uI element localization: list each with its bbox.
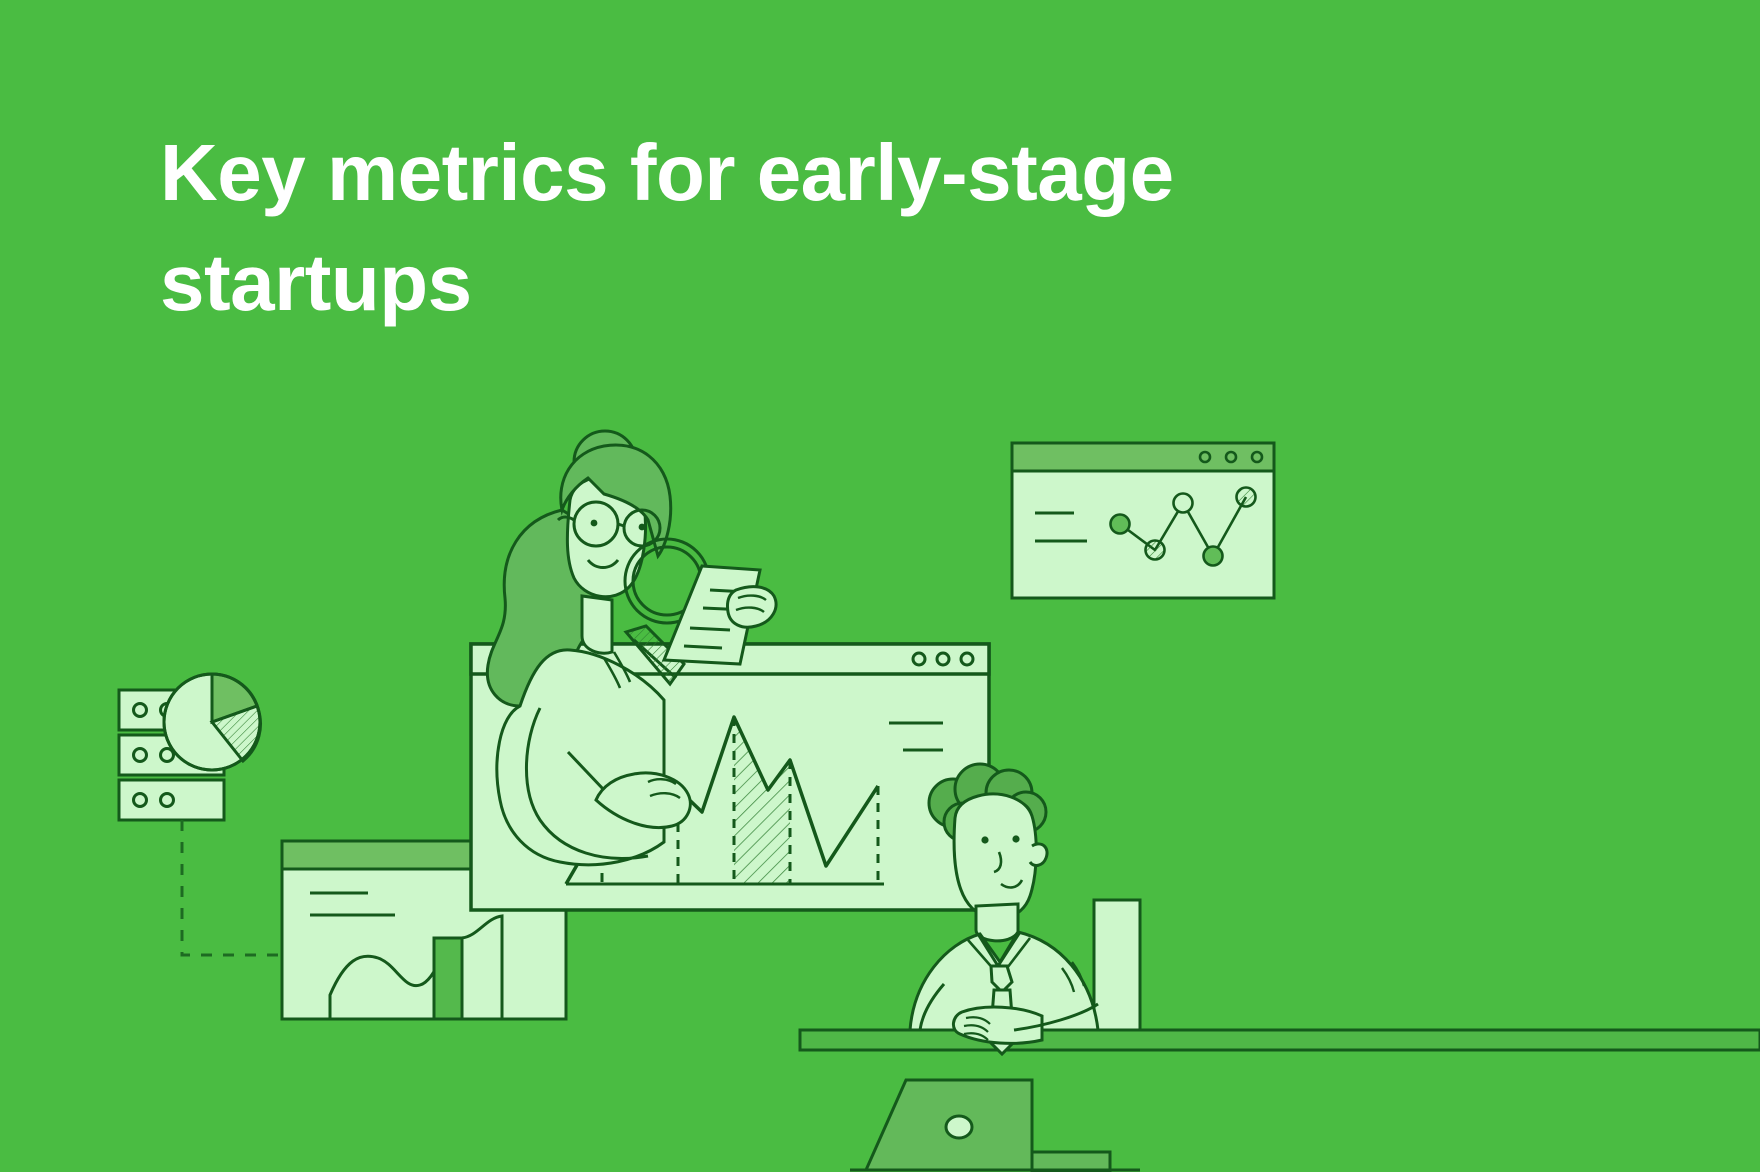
desk <box>800 1030 1760 1050</box>
eye <box>639 524 646 531</box>
eye <box>981 836 988 843</box>
poster-canvas: Key metrics for early-stage startups <box>0 0 1760 1172</box>
chart-marker <box>1237 488 1256 507</box>
ear <box>1030 844 1047 866</box>
area-chart-bar <box>434 938 464 1020</box>
pie-chart <box>164 674 260 770</box>
window-titlebar <box>1012 443 1274 471</box>
top-right-window[interactable] <box>1012 443 1274 598</box>
face <box>954 794 1036 919</box>
server-row-3 <box>119 780 224 820</box>
eye <box>1012 835 1019 842</box>
eye <box>591 520 598 527</box>
paper-sheet <box>1094 900 1140 1030</box>
chart-marker <box>1204 547 1223 566</box>
chart-marker <box>1174 494 1193 513</box>
illustration-root <box>0 0 1760 1172</box>
chart-marker <box>1146 541 1165 560</box>
man-at-laptop <box>800 764 1760 1172</box>
chart-marker <box>1111 515 1130 534</box>
laptop <box>850 1080 1140 1172</box>
laptop-logo <box>946 1116 972 1138</box>
